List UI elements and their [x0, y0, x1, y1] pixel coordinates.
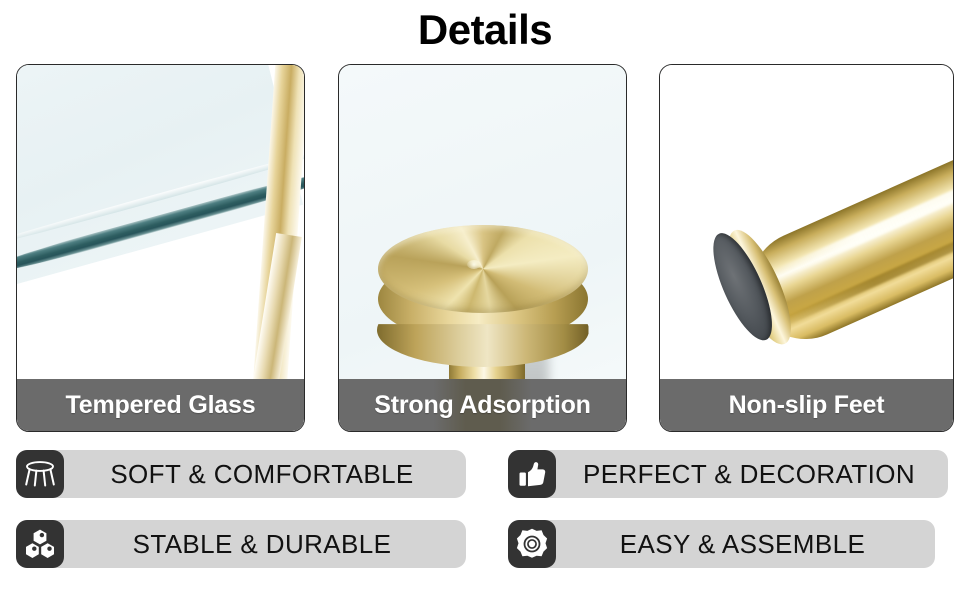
feature-label: PERFECT & DECORATION: [556, 459, 948, 490]
card-label: Non-slip Feet: [729, 391, 885, 420]
card-label-bar: Tempered Glass: [17, 379, 304, 431]
feature-pill-stable-durable: STABLE & DURABLE: [16, 520, 466, 568]
strong-adsorption-photo: [339, 65, 626, 431]
non-slip-feet-photo: [660, 65, 953, 431]
tempered-glass-photo: [17, 65, 304, 431]
detail-card-strong-adsorption: Strong Adsorption: [338, 64, 627, 432]
thumbs-up-icon: [508, 450, 556, 498]
details-infographic: Details Tempered Glass: [0, 0, 970, 600]
feature-pill-easy-assemble: EASY & ASSEMBLE: [508, 520, 935, 568]
card-label-bar: Strong Adsorption: [339, 379, 626, 431]
brushed-gold-disc-top: [378, 225, 588, 313]
feature-label: STABLE & DURABLE: [64, 529, 466, 560]
feature-label: SOFT & COMFORTABLE: [64, 459, 466, 490]
feature-pill-perfect-decoration: PERFECT & DECORATION: [508, 450, 948, 498]
feature-pill-soft-comfortable: SOFT & COMFORTABLE: [16, 450, 466, 498]
card-label-bar: Non-slip Feet: [660, 379, 953, 431]
feature-label: EASY & ASSEMBLE: [556, 529, 935, 560]
detail-cards-row: Tempered Glass Strong Adsorption: [0, 64, 970, 432]
card-label: Strong Adsorption: [374, 391, 590, 420]
card-label: Tempered Glass: [66, 391, 256, 420]
gear-icon: [508, 520, 556, 568]
stool-icon: [16, 450, 64, 498]
detail-card-tempered-glass: Tempered Glass: [16, 64, 305, 432]
page-title: Details: [0, 6, 970, 54]
feature-pills: SOFT & COMFORTABLE PERFECT & DECORATION: [0, 448, 970, 594]
detail-card-non-slip-feet: Non-slip Feet: [659, 64, 954, 432]
hexagons-icon: [16, 520, 64, 568]
